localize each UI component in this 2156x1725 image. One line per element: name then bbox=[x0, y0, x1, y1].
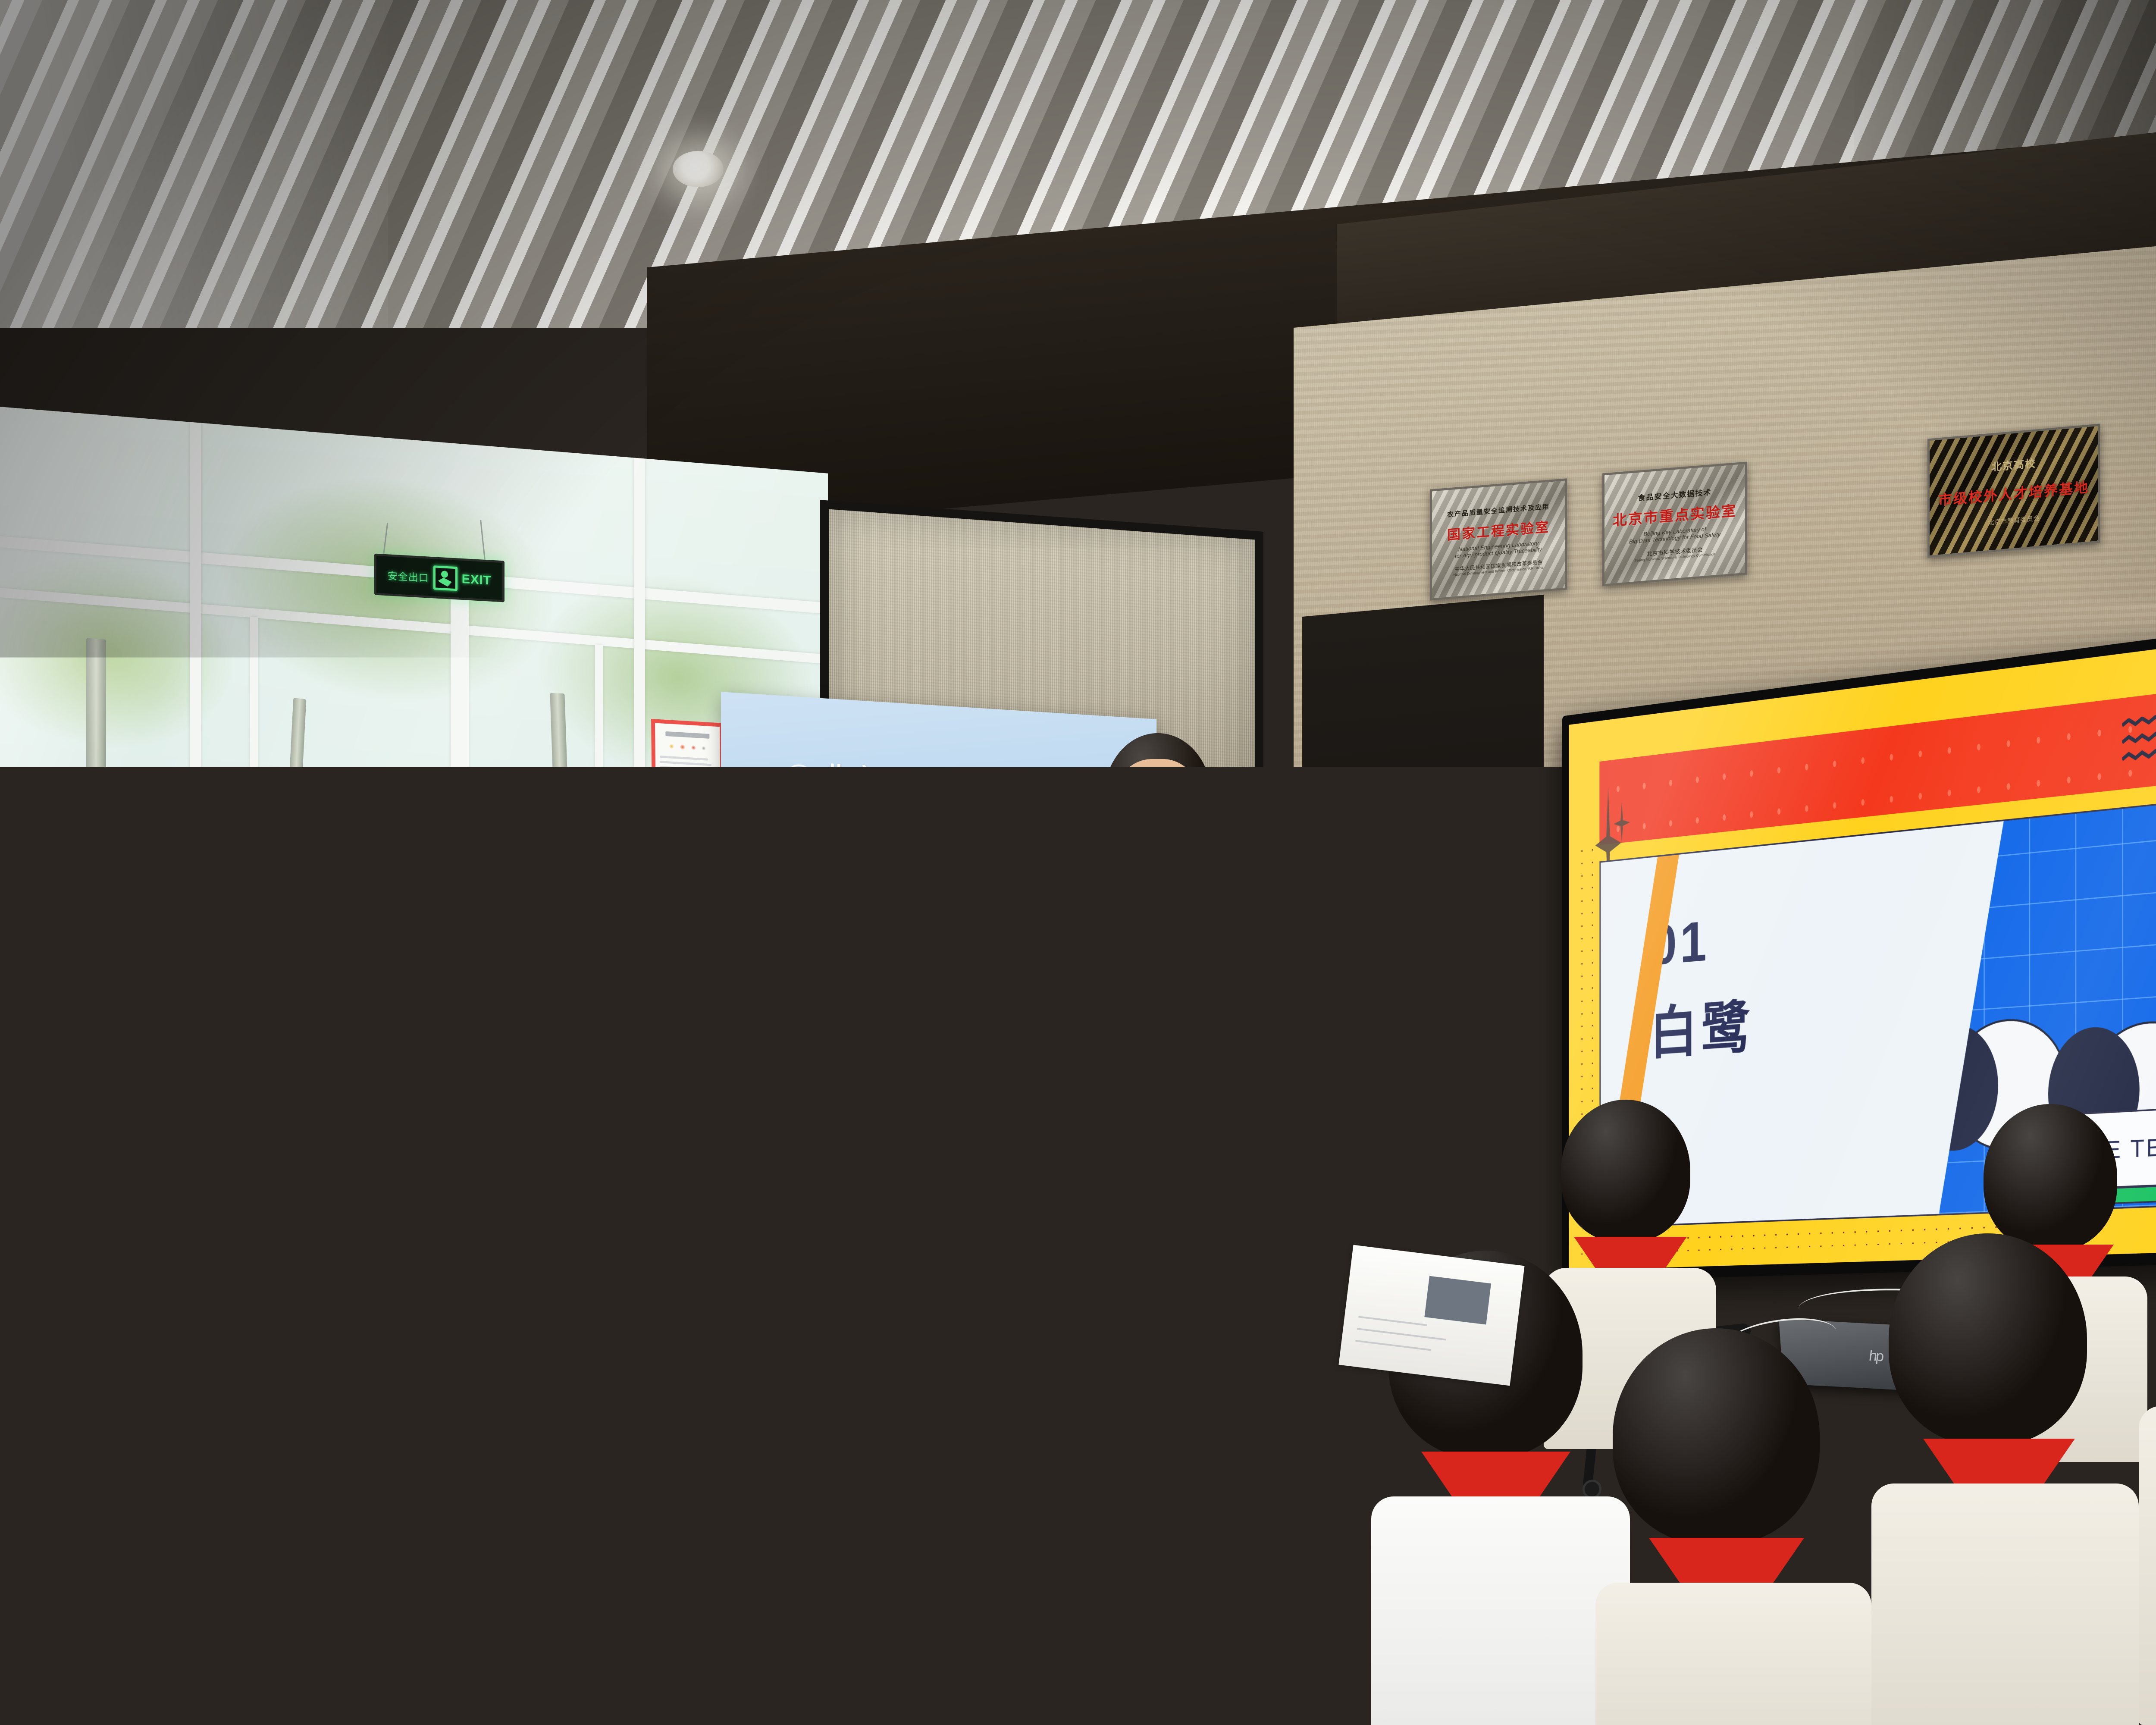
zigzag-icon bbox=[2122, 712, 2156, 768]
plaque-national-engineering-laboratory: 农产品质量安全追溯技术及应用 国家工程实验室 National Engineer… bbox=[1430, 478, 1567, 601]
plaque-header: 北京高校 bbox=[1991, 455, 2036, 474]
running-person-icon bbox=[433, 565, 458, 591]
presenter-badge bbox=[1169, 914, 1188, 934]
exit-sign-english-label: EXIT bbox=[462, 572, 491, 588]
exit-sign-chinese-label: 安全出口 bbox=[388, 568, 429, 584]
plaque-title: 国家工程实验室 bbox=[1447, 516, 1550, 543]
woman-glasses-right bbox=[180, 841, 206, 860]
presenter-glasses-left bbox=[1118, 784, 1153, 807]
presenter-face bbox=[1112, 759, 1203, 867]
student-row-back-7 bbox=[1173, 1013, 1341, 1341]
plaque-title: 市级校外人才培养基地 bbox=[1938, 477, 2089, 510]
exit-sign: 安全出口 EXIT bbox=[374, 554, 505, 602]
handout-paper-2[interactable] bbox=[1338, 1245, 1524, 1386]
plaque-beijing-key-laboratory: 食品安全大数据技术 北京市重点实验室 Beijing Key Laborator… bbox=[1602, 461, 1747, 586]
presenter-shirt-placket bbox=[1150, 884, 1156, 1151]
plaque-off-campus-talent-base: 北京高校 市级校外人才培养基地 北京市教育委员会 bbox=[1927, 424, 2100, 558]
notice-poster bbox=[651, 719, 725, 888]
plaque-header: 农产品质量安全追溯技术及应用 bbox=[1447, 502, 1550, 519]
slide-title: 白鹭 bbox=[1650, 981, 1753, 1070]
student-front-2 bbox=[129, 1069, 354, 1501]
student-front-6 bbox=[1104, 1371, 1371, 1725]
plaque-org: 北京市教育委员会 bbox=[1988, 514, 2040, 527]
notice-poster-logos bbox=[667, 741, 709, 753]
university-crest-icon bbox=[786, 763, 813, 793]
ceiling-highlight-left bbox=[0, 0, 388, 328]
photo-scene: 安全出口 EXIT 农产品质量安全追溯技术及应用 国家工程实验室 Nationa… bbox=[0, 0, 2156, 1725]
plaque-header: 食品安全大数据技术 bbox=[1638, 486, 1712, 503]
student-front-8 bbox=[1595, 1328, 1871, 1725]
handout-paper-3[interactable] bbox=[1858, 1421, 2031, 1551]
plaque-title: 北京市重点实验室 bbox=[1613, 499, 1737, 530]
presenter-glasses-right bbox=[1161, 784, 1196, 807]
ceiling-downlight-1 bbox=[673, 151, 724, 187]
student-front-10 bbox=[2139, 1138, 2156, 1725]
woman-glasses-left bbox=[147, 841, 173, 860]
